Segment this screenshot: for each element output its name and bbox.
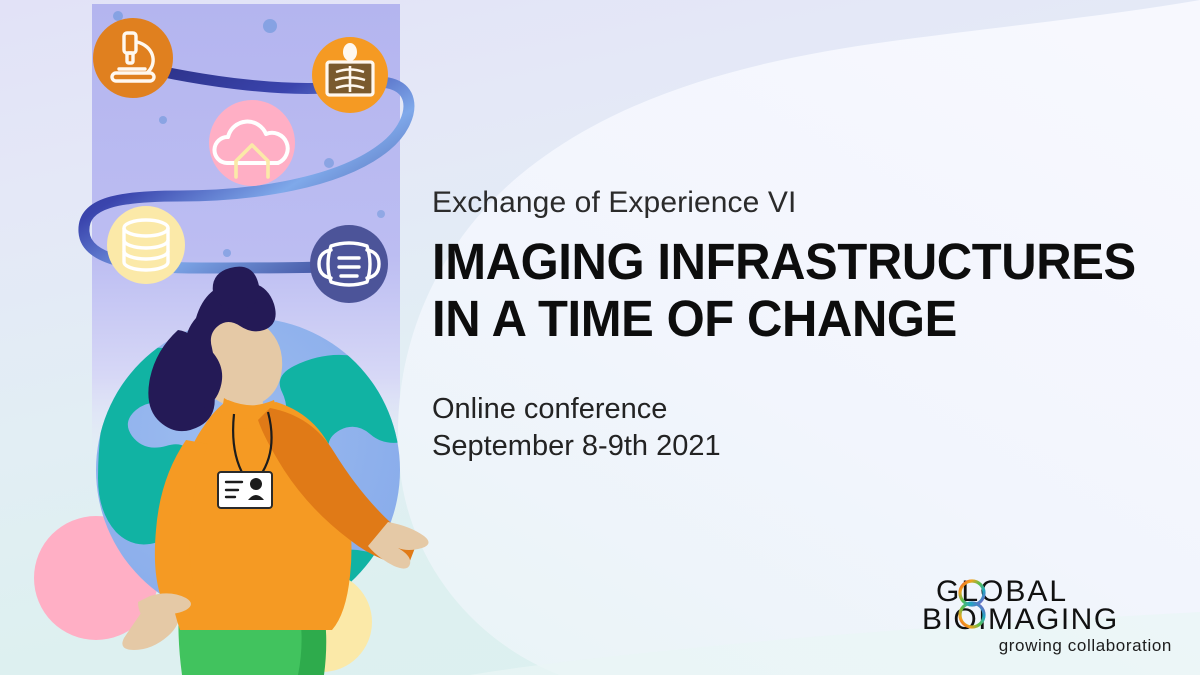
logo-tagline: growing collaboration <box>916 636 1172 656</box>
conference-poster: Exchange of Experience VI IMAGING INFRAS… <box>0 0 1200 675</box>
hair-bun <box>213 267 260 310</box>
subtitle-block: Online conference September 8-9th 2021 <box>432 391 1132 465</box>
headline-text-block: Exchange of Experience VI IMAGING INFRAS… <box>432 186 1132 465</box>
global-bioimaging-logo: GLOBAL BIOIMAGING growing collaboration <box>916 576 1172 660</box>
subtitle-line-1: Online conference <box>432 391 1132 428</box>
headline-line-2: IN A TIME OF CHANGE <box>432 290 1104 347</box>
subtitle-line-2: September 8-9th 2021 <box>432 428 1132 465</box>
eyebrow-text: Exchange of Experience VI <box>432 186 1132 219</box>
id-badge <box>218 472 272 508</box>
headline-line-1: IMAGING INFRASTRUCTURES <box>432 233 1104 290</box>
logo-wordmark: GLOBAL BIOIMAGING <box>916 576 1172 638</box>
logo-word-bioimaging: BIOIMAGING <box>922 603 1119 636</box>
